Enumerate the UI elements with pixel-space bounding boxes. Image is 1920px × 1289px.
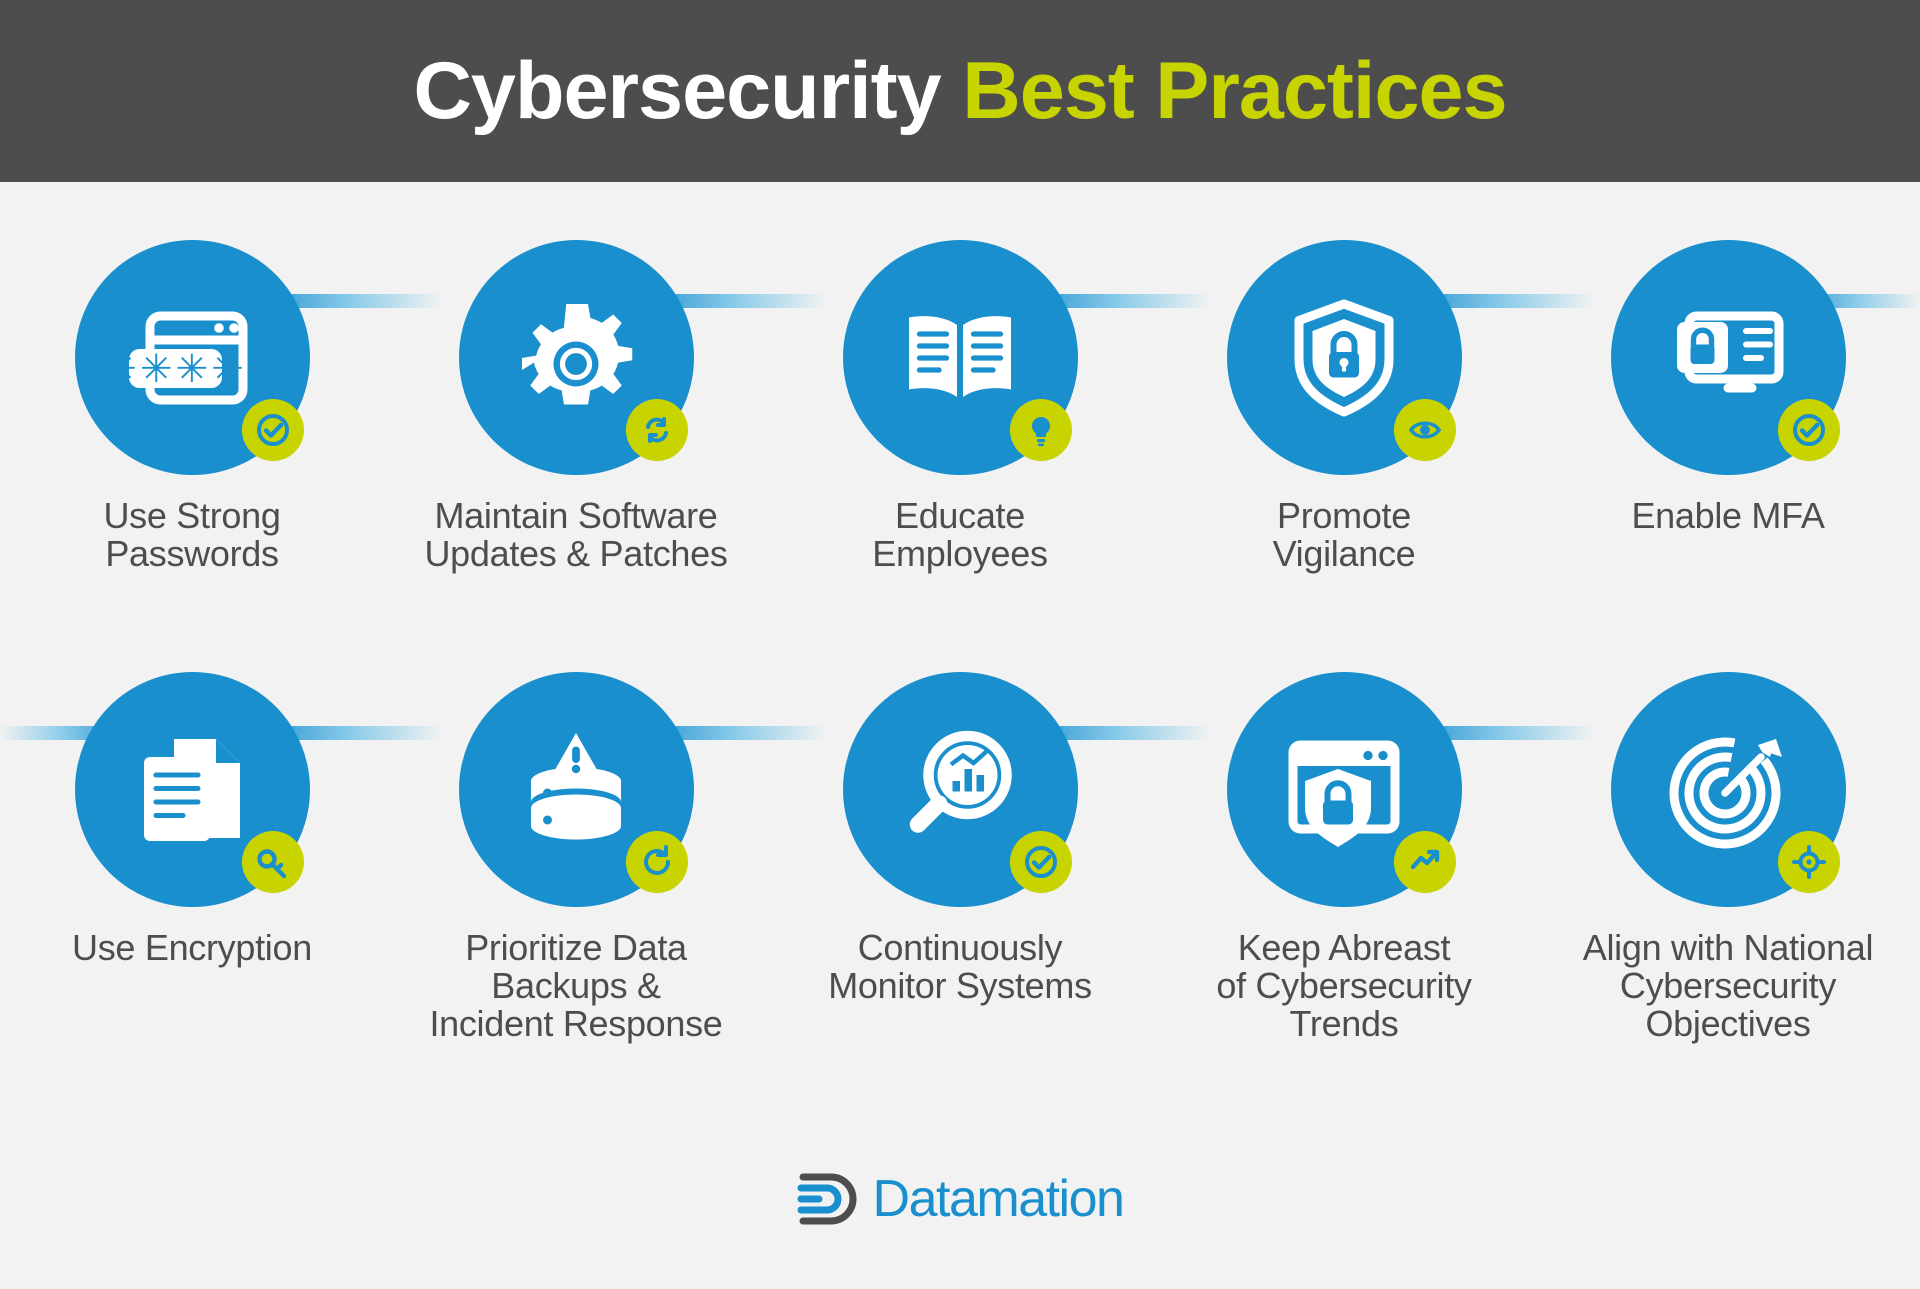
page-title-accent: Best Practices: [962, 46, 1506, 136]
practice-item-use-encryption[interactable]: Use Encryption: [0, 672, 384, 1042]
icon-circle: [843, 672, 1078, 907]
practice-label: Prioritize DataBackups &Incident Respons…: [429, 929, 722, 1042]
trend-up-icon: [1405, 842, 1445, 882]
badge-check-circle: [1010, 831, 1072, 893]
practice-item-use-strong-passwords[interactable]: ✳✳✳✳ Use StrongPasswords: [0, 240, 384, 573]
practice-label: Keep Abreastof CybersecurityTrends: [1216, 929, 1471, 1042]
brand-name: Datamation: [873, 1169, 1124, 1229]
icon-circle: [1611, 240, 1846, 475]
page-title-primary: Cybersecurity: [413, 46, 962, 136]
open-book-icon: [885, 283, 1035, 433]
practice-label: Maintain SoftwareUpdates & Patches: [424, 497, 727, 573]
practices-board: ✳✳✳✳ Use StrongPasswords: [0, 182, 1920, 1289]
icon-circle: [75, 672, 310, 907]
practice-row-2: Use Encryption: [0, 672, 1920, 1042]
page-title: Cybersecurity Best Practices: [413, 45, 1506, 138]
practice-item-educate-employees[interactable]: EducateEmployees: [768, 240, 1152, 573]
practice-label: ContinuouslyMonitor Systems: [828, 929, 1092, 1005]
restore-icon: [637, 842, 677, 882]
icon-circle: [1227, 240, 1462, 475]
icon-circle: [843, 240, 1078, 475]
practice-label: EducateEmployees: [872, 497, 1047, 573]
gear-icon: [501, 283, 651, 433]
practice-item-enable-mfa[interactable]: Enable MFA: [1536, 240, 1920, 573]
icon-circle: [1611, 672, 1846, 907]
practice-label: Align with NationalCybersecurityObjectiv…: [1583, 929, 1873, 1042]
footer-branding: Datamation: [0, 1168, 1920, 1230]
icon-circle: ✳✳✳✳: [75, 240, 310, 475]
target-arrow-icon: [1653, 715, 1803, 865]
practice-row-1: ✳✳✳✳ Use StrongPasswords: [0, 240, 1920, 573]
page-header: Cybersecurity Best Practices: [0, 0, 1920, 182]
check-circle-icon: [253, 410, 293, 450]
password-browser-icon: ✳✳✳✳: [117, 283, 267, 433]
practice-item-prioritize-data-backups[interactable]: Prioritize DataBackups &Incident Respons…: [384, 672, 768, 1042]
practice-label: Enable MFA: [1631, 497, 1824, 535]
lightbulb-icon: [1021, 410, 1061, 450]
practice-item-maintain-software-updates[interactable]: Maintain SoftwareUpdates & Patches: [384, 240, 768, 573]
refresh-sync-icon: [637, 410, 677, 450]
practice-item-align-national-objectives[interactable]: Align with NationalCybersecurityObjectiv…: [1536, 672, 1920, 1042]
practice-item-keep-abreast-trends[interactable]: Keep Abreastof CybersecurityTrends: [1152, 672, 1536, 1042]
icon-circle: [1227, 672, 1462, 907]
key-icon: [253, 842, 293, 882]
badge-eye: [1394, 399, 1456, 461]
badge-check-circle: [1778, 399, 1840, 461]
badge-lightbulb: [1010, 399, 1072, 461]
icon-circle: [459, 672, 694, 907]
eye-icon: [1405, 410, 1445, 450]
datamation-d-logo-icon: [797, 1168, 863, 1230]
practice-label: PromoteVigilance: [1273, 497, 1416, 573]
practice-item-continuously-monitor-systems[interactable]: ContinuouslyMonitor Systems: [768, 672, 1152, 1042]
badge-key: [242, 831, 304, 893]
magnifier-chart-icon: [885, 715, 1035, 865]
crosshair-icon: [1789, 842, 1829, 882]
practice-item-promote-vigilance[interactable]: PromoteVigilance: [1152, 240, 1536, 573]
browser-shield-lock-icon: [1269, 715, 1419, 865]
check-circle-icon: [1789, 410, 1829, 450]
monitor-phone-lock-icon: [1653, 283, 1803, 433]
badge-check-circle: [242, 399, 304, 461]
badge-trend-up: [1394, 831, 1456, 893]
practice-label: Use StrongPasswords: [103, 497, 280, 573]
shield-lock-icon: [1269, 283, 1419, 433]
icon-circle: [459, 240, 694, 475]
badge-refresh-sync: [626, 399, 688, 461]
svg-text:✳✳✳✳: ✳✳✳✳: [117, 348, 247, 391]
badge-crosshair: [1778, 831, 1840, 893]
practice-label: Use Encryption: [72, 929, 312, 967]
check-circle-icon: [1021, 842, 1061, 882]
badge-restore: [626, 831, 688, 893]
document-lock-icon: [117, 715, 267, 865]
database-alert-icon: [501, 715, 651, 865]
